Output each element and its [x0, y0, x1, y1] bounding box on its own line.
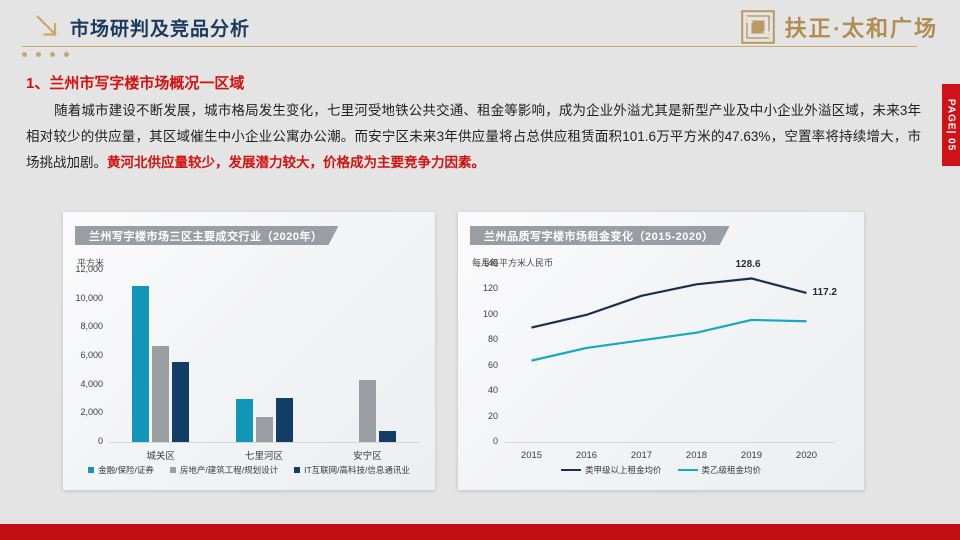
bar-chart-card: 兰州写字楼市场三区主要成交行业（2020年） 平方米 12,00010,0008… — [63, 212, 435, 490]
data-label: 128.6 — [736, 259, 761, 270]
bar-y-tick: 12,000 — [59, 264, 103, 274]
bar-x-tick: 七里河区 — [224, 448, 304, 462]
line-y-tick: 80 — [464, 334, 498, 344]
line-chart-card: 兰州品质写字楼市场租金变化（2015-2020） 每月每平方米人民币 14012… — [458, 212, 864, 490]
legend-label: 金融/保险/证券 — [98, 464, 154, 476]
decor-dots — [22, 52, 69, 57]
line-y-tick: 140 — [464, 258, 498, 268]
slide-header: 市场研判及竞品分析 扶正·太和广场 — [0, 0, 960, 62]
dot-3 — [50, 52, 55, 57]
line-x-tick: 2017 — [617, 450, 667, 461]
bar-chart-legend: 金融/保险/证券房地产/建筑工程/规划设计IT互联网/高科技/信息通讯业 — [63, 464, 435, 476]
brand-logo: 扶正·太和广场 — [741, 10, 938, 44]
line-x-tick: 2019 — [727, 450, 777, 461]
line-path — [532, 320, 807, 361]
legend-item: 金融/保险/证券 — [88, 464, 154, 476]
header-divider — [22, 46, 917, 47]
paragraph-highlight: 黄河北供应量较少，发展潜力较大，价格成为主要竞争力因素。 — [107, 155, 485, 170]
legend-line-icon — [561, 469, 581, 472]
bar-y-tick: 8,000 — [59, 321, 103, 331]
bar-segment — [379, 431, 396, 442]
page-number-tab: PAGE| 05 — [942, 84, 960, 166]
line-y-tick: 40 — [464, 385, 498, 395]
bar-segment — [359, 380, 376, 442]
line-x-tick: 2018 — [672, 450, 722, 461]
bar-chart-title: 兰州写字楼市场三区主要成交行业（2020年） — [75, 226, 338, 245]
dot-1 — [22, 52, 27, 57]
legend-label: 类乙级租金均价 — [702, 464, 762, 476]
bar-y-tick: 6,000 — [59, 350, 103, 360]
legend-label: 房地产/建筑工程/规划设计 — [180, 464, 278, 476]
line-chart-legend: 类甲级以上租金均价类乙级租金均价 — [458, 464, 864, 476]
legend-label: 类甲级以上租金均价 — [585, 464, 662, 476]
bar-segment — [172, 362, 189, 442]
line-y-tick: 60 — [464, 360, 498, 370]
legend-item: IT互联网/高科技/信息通讯业 — [294, 464, 410, 476]
line-axis-line — [504, 442, 834, 443]
bar-y-tick: 2,000 — [59, 407, 103, 417]
line-y-tick: 0 — [464, 436, 498, 446]
bar-segment — [152, 346, 169, 442]
line-chart-plot: 1401201008060402002015201620172018201920… — [504, 264, 834, 442]
legend-item: 类乙级租金均价 — [678, 464, 762, 476]
legend-line-icon — [678, 469, 698, 472]
page-number-label: PAGE| 05 — [946, 99, 957, 151]
dot-2 — [36, 52, 41, 57]
line-y-tick: 20 — [464, 411, 498, 421]
line-y-tick: 100 — [464, 309, 498, 319]
section-heading: 1、兰州市写字楼市场概况一区域 — [26, 72, 244, 93]
bar-x-tick: 安宁区 — [327, 448, 407, 462]
bar-segment — [276, 398, 293, 442]
bar-axis-line — [109, 442, 419, 443]
data-label: 117.2 — [813, 287, 837, 298]
legend-item: 类甲级以上租金均价 — [561, 464, 662, 476]
seal-square-icon — [741, 10, 775, 44]
bar-y-tick: 4,000 — [59, 379, 103, 389]
legend-label: IT互联网/高科技/信息通讯业 — [304, 464, 410, 476]
line-x-tick: 2016 — [562, 450, 612, 461]
diagonal-arrow-down-right-icon — [35, 14, 61, 40]
dot-4 — [64, 52, 69, 57]
line-y-tick: 120 — [464, 283, 498, 293]
bar-y-tick: 10,000 — [59, 293, 103, 303]
line-series-group — [504, 264, 834, 442]
footer-accent-bar — [0, 524, 960, 540]
bar-x-tick: 城关区 — [121, 448, 201, 462]
legend-swatch-icon — [294, 467, 300, 473]
bar-y-tick: 0 — [59, 436, 103, 446]
legend-swatch-icon — [88, 467, 94, 473]
line-x-tick: 2015 — [507, 450, 557, 461]
legend-item: 房地产/建筑工程/规划设计 — [170, 464, 278, 476]
bar-segment — [236, 399, 253, 442]
page-title: 市场研判及竞品分析 — [70, 14, 250, 41]
bar-chart-plot: 12,00010,0008,0006,0004,0002,0000城关区七里河区… — [109, 270, 419, 442]
bar-segment — [256, 417, 273, 442]
line-x-tick: 2020 — [782, 450, 832, 461]
legend-swatch-icon — [170, 467, 176, 473]
bar-segment — [132, 286, 149, 442]
line-chart-title: 兰州品质写字楼市场租金变化（2015-2020） — [470, 226, 730, 245]
body-paragraph: 随着城市建设不断发展，城市格局发生变化，七里河受地铁公共交通、租金等影响，成为企… — [26, 98, 921, 176]
brand-name: 扶正·太和广场 — [785, 11, 938, 43]
